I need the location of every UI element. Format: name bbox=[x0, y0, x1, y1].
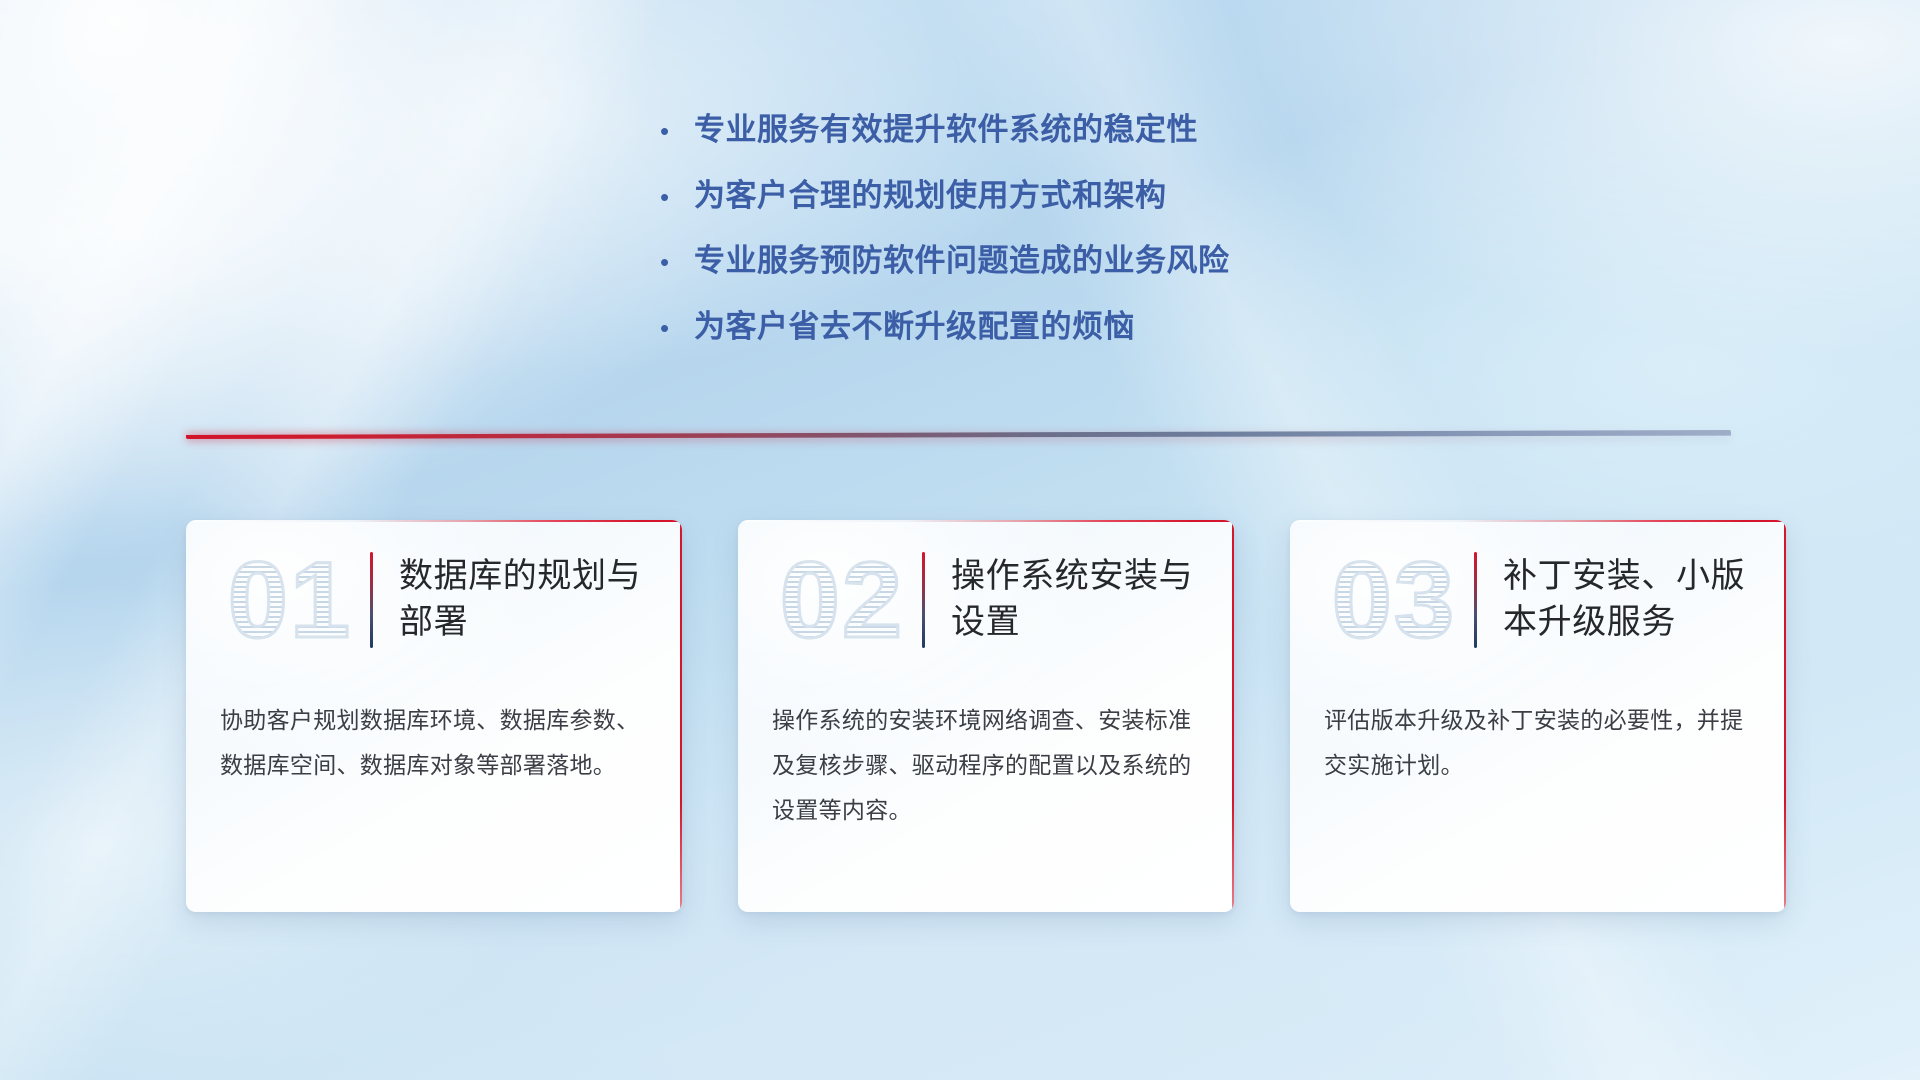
card-title-rule bbox=[370, 552, 373, 648]
bullet-item: • 专业服务有效提升软件系统的稳定性 bbox=[660, 110, 1420, 150]
service-card-03[interactable]: 03 补丁安装、小版本升级服务 评估版本升级及补丁安装的必要性，并提交实施计划。 bbox=[1290, 520, 1786, 912]
service-card-02[interactable]: 02 操作系统安装与设置 操作系统的安装环境网络调查、安装标准及复核步骤、驱动程… bbox=[738, 520, 1234, 912]
card-number-badge: 02 bbox=[768, 546, 916, 654]
bullet-item: • 为客户合理的规划使用方式和架构 bbox=[660, 176, 1420, 216]
bullet-marker-icon: • bbox=[660, 118, 694, 144]
card-header: 03 补丁安装、小版本升级服务 bbox=[1290, 520, 1786, 680]
bullet-item: • 专业服务预防软件问题造成的业务风险 bbox=[660, 241, 1420, 281]
card-description: 操作系统的安装环境网络调查、安装标准及复核步骤、驱动程序的配置以及系统的设置等内… bbox=[738, 680, 1234, 833]
card-header: 01 数据库的规划与部署 bbox=[186, 520, 682, 680]
bullet-item: • 为客户省去不断升级配置的烦恼 bbox=[660, 307, 1420, 347]
card-number-badge: 03 bbox=[1320, 546, 1468, 654]
bullet-marker-icon: • bbox=[660, 315, 694, 341]
card-number-badge: 01 bbox=[216, 546, 364, 654]
card-title: 数据库的规划与部署 bbox=[399, 554, 656, 645]
section-divider bbox=[186, 430, 1731, 439]
bullet-marker-icon: • bbox=[660, 249, 694, 275]
card-deck: 01 数据库的规划与部署 协助客户规划数据库环境、数据库参数、数据库空间、数据库… bbox=[186, 520, 1786, 912]
bullet-marker-icon: • bbox=[660, 184, 694, 210]
bullet-item-label: 专业服务预防软件问题造成的业务风险 bbox=[694, 241, 1230, 281]
card-header: 02 操作系统安装与设置 bbox=[738, 520, 1234, 680]
card-title: 操作系统安装与设置 bbox=[951, 554, 1208, 645]
card-description: 评估版本升级及补丁安装的必要性，并提交实施计划。 bbox=[1290, 680, 1786, 788]
bullet-item-label: 为客户省去不断升级配置的烦恼 bbox=[694, 307, 1135, 347]
bullet-list: • 专业服务有效提升软件系统的稳定性 • 为客户合理的规划使用方式和架构 • 专… bbox=[660, 110, 1420, 373]
card-title-rule bbox=[1474, 552, 1477, 648]
card-description: 协助客户规划数据库环境、数据库参数、数据库空间、数据库对象等部署落地。 bbox=[186, 680, 682, 788]
card-title-rule bbox=[922, 552, 925, 648]
service-card-01[interactable]: 01 数据库的规划与部署 协助客户规划数据库环境、数据库参数、数据库空间、数据库… bbox=[186, 520, 682, 912]
card-title: 补丁安装、小版本升级服务 bbox=[1503, 554, 1760, 645]
bullet-item-label: 为客户合理的规划使用方式和架构 bbox=[694, 176, 1167, 216]
bullet-item-label: 专业服务有效提升软件系统的稳定性 bbox=[694, 110, 1198, 150]
slide-canvas: • 专业服务有效提升软件系统的稳定性 • 为客户合理的规划使用方式和架构 • 专… bbox=[0, 0, 1920, 1080]
